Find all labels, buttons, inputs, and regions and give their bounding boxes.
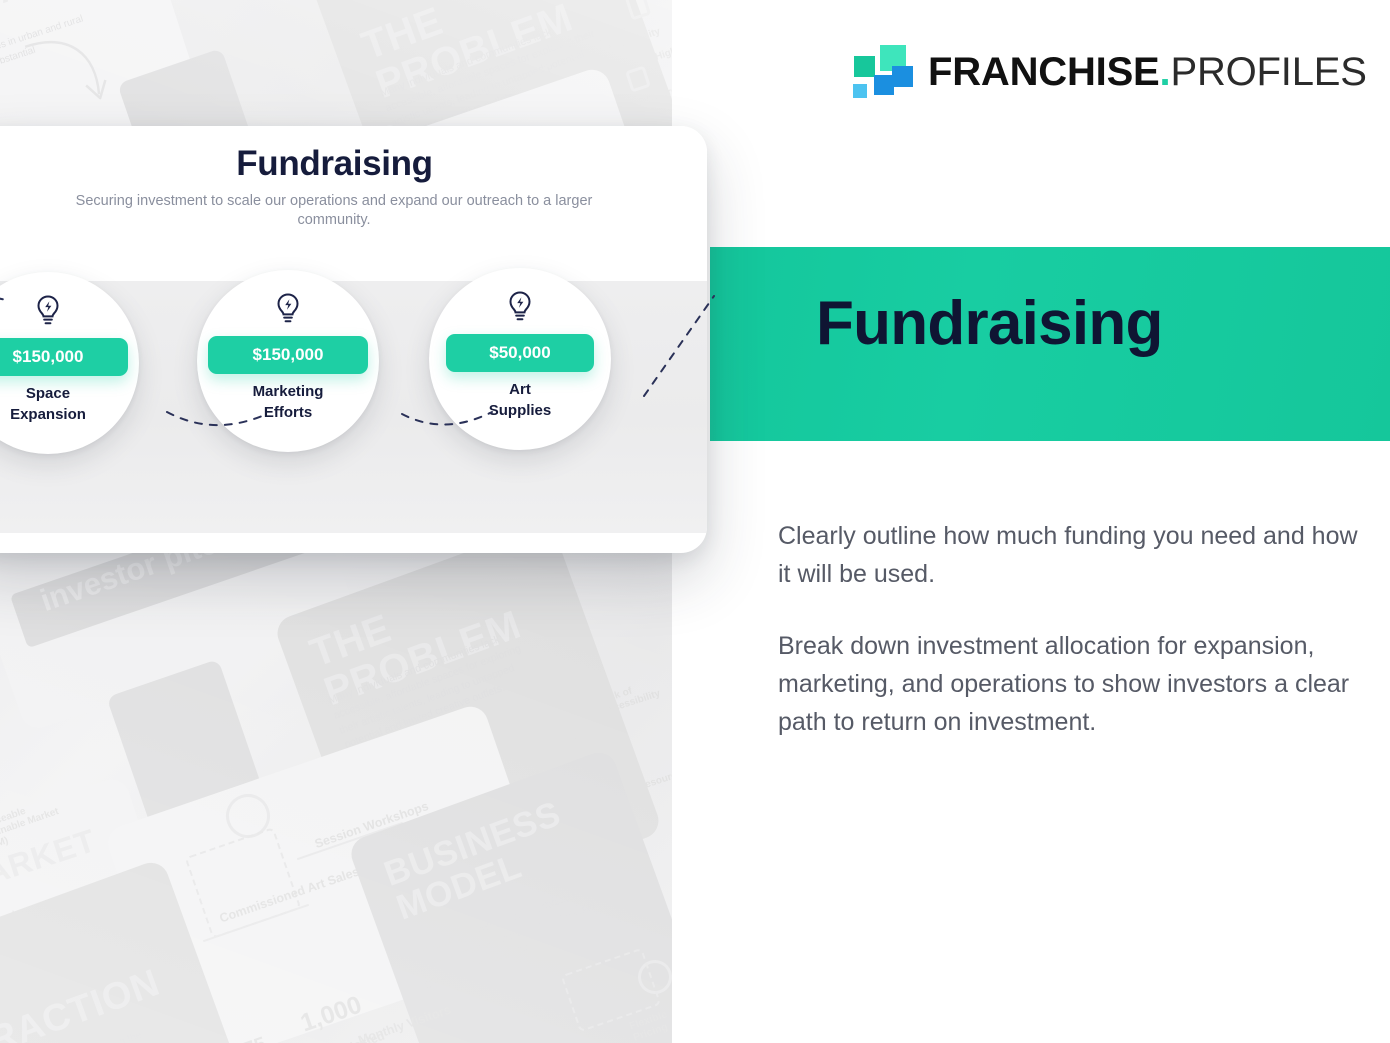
slide-canvas: MARKET spaces in urban and rural is subs…	[0, 0, 1390, 1043]
funding-node-space-expansion[interactable]: $150,000 Space Expansion	[0, 272, 139, 454]
funding-node-label: Marketing Efforts	[203, 382, 373, 423]
logo-square-teal	[854, 56, 875, 77]
logo-dot: .	[1160, 50, 1171, 94]
fundraising-slide-card: Fundraising Securing investment to scale…	[0, 126, 707, 553]
funding-node-label: Space Expansion	[0, 384, 133, 425]
funding-amount-badge: $50,000	[446, 334, 594, 372]
section-description: Clearly outline how much funding you nee…	[778, 517, 1358, 741]
bg-label-high-pricing: High Pricing	[654, 34, 672, 63]
funding-node-label-line1: Art	[435, 380, 605, 401]
funding-node-label-line1: Marketing	[203, 382, 373, 403]
logo-wordmark: FRANCHISE.PROFILES	[928, 52, 1367, 92]
description-paragraph-1: Clearly outline how much funding you nee…	[778, 517, 1358, 593]
lightbulb-bolt-icon	[505, 290, 535, 324]
funding-allocation-nodes: $150,000 Space Expansion $150,000	[0, 252, 707, 482]
logo-square-blue-right	[892, 66, 913, 87]
logo-word-franchise: FRANCHISE	[928, 50, 1160, 94]
section-title-banner: Fundraising	[710, 247, 1390, 441]
funding-node-marketing-efforts[interactable]: $150,000 Marketing Efforts	[197, 270, 379, 452]
funding-node-label-line2: Efforts	[203, 403, 373, 424]
section-title: Fundraising	[816, 291, 1163, 356]
logo-word-profiles: PROFILES	[1170, 50, 1366, 94]
funding-amount-badge: $150,000	[0, 338, 128, 376]
franchise-profiles-logo: FRANCHISE.PROFILES	[852, 44, 1367, 100]
logo-squares-mark	[852, 44, 910, 100]
right-panel: FRANCHISE.PROFILES Fundraising Clearly o…	[672, 0, 1390, 1043]
card-subtitle: Securing investment to scale our operati…	[74, 192, 594, 230]
funding-amount-badge: $150,000	[208, 336, 368, 374]
lightbulb-bolt-icon	[273, 292, 303, 326]
bg-label-lack-of-accessibility: Lack of Accessibility	[597, 669, 672, 718]
funding-node-art-supplies[interactable]: $50,000 Art Supplies	[429, 268, 611, 450]
lightbulb-bolt-icon	[33, 294, 63, 328]
logo-square-lightblue	[853, 84, 867, 98]
card-title: Fundraising	[0, 144, 707, 184]
funding-node-label: Art Supplies	[435, 380, 605, 421]
funding-node-label-line2: Supplies	[435, 401, 605, 422]
bg-slide-title: MARKET	[0, 0, 119, 19]
funding-node-label-line2: Expansion	[0, 405, 133, 426]
funding-node-label-line1: Space	[0, 384, 133, 405]
description-paragraph-2: Break down investment allocation for exp…	[778, 627, 1358, 741]
logo-square-blue-mid	[874, 75, 894, 95]
